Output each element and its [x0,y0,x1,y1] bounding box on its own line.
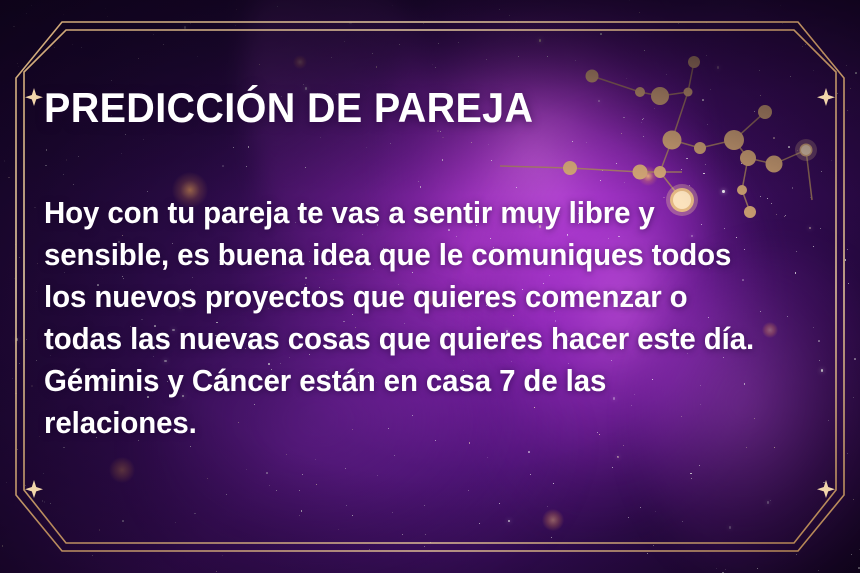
sparkle-icon-top-right [817,88,835,106]
prediction-body-text: Hoy con tu pareja te vas a sentir muy li… [44,192,760,444]
sparkle-icon-top-left [25,88,43,106]
horoscope-prediction-card: PREDICCIÓN DE PAREJA Hoy con tu pareja t… [0,0,860,573]
page-title: PREDICCIÓN DE PAREJA [44,86,758,130]
card-content: PREDICCIÓN DE PAREJA Hoy con tu pareja t… [44,86,804,444]
